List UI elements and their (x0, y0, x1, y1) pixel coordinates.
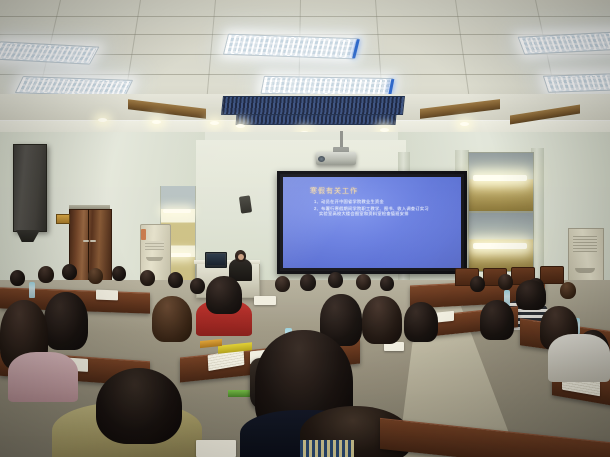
attendee-head (470, 276, 485, 292)
door-plaque (56, 214, 70, 224)
attendee-hair (152, 296, 192, 342)
attendee-hair (44, 292, 88, 350)
attendee-hair (480, 300, 514, 340)
attendee-hair (404, 302, 438, 342)
attendee-head (168, 272, 183, 288)
paper-sheet (96, 290, 118, 301)
chair-back (540, 266, 564, 284)
attendee-body (548, 334, 610, 382)
attendee-head (498, 274, 513, 290)
water-bottle (29, 282, 35, 298)
attendee-head (190, 278, 205, 294)
ceiling-downlight (460, 122, 469, 126)
navy-ceiling-slats (236, 114, 397, 125)
attendee-head (88, 268, 103, 284)
attendee-hair (362, 296, 402, 344)
door-handle[interactable] (83, 240, 89, 242)
presenter-laptop (205, 252, 227, 268)
projector-lens-icon (318, 156, 325, 162)
wall-speaker (13, 144, 47, 232)
ac-logo (575, 268, 595, 273)
attendee-head (356, 274, 371, 290)
attendee-head (10, 270, 25, 286)
attendee-hair (516, 280, 546, 310)
projection-screen: 寒假有关工作 1、动员在开中国省学院教业生资金 2、布署行寒假期间学院职工教学、… (283, 177, 461, 268)
ac-vent (573, 236, 597, 252)
attendee-head (560, 282, 576, 299)
attendee-head (38, 266, 54, 283)
ceiling-downlight (98, 118, 107, 122)
sconce-lamp (473, 175, 527, 181)
ceiling-light-panel (0, 41, 99, 64)
laptop-screen (207, 254, 225, 265)
attendee-hair (206, 276, 242, 314)
attendee-head (112, 266, 126, 281)
attendee-head (62, 264, 77, 280)
ac-logo (146, 257, 163, 261)
wall-sconce-panel (468, 152, 534, 212)
door-handle[interactable] (90, 240, 96, 242)
attendee-head (140, 270, 155, 286)
small-wall-speaker (239, 195, 252, 213)
projection-screen-frame: 寒假有关工作 1、动员在开中国省学院教业生资金 2、布署行寒假期间学院职工教学、… (277, 171, 467, 274)
ceiling-downlight (236, 124, 245, 128)
ceiling-downlight (210, 121, 219, 125)
photo-scene: 寒假有关工作 1、动员在开中国省学院教业生资金 2、布署行寒假期间学院职工教学、… (0, 0, 610, 457)
ceiling-light-panel (543, 72, 610, 93)
attendee-head (275, 276, 290, 292)
ceiling-light-panel (223, 34, 359, 60)
attendee-head (328, 272, 343, 288)
presenter-face (238, 254, 244, 260)
ceiling-downlight (152, 120, 161, 124)
sconce-lamp (473, 243, 527, 249)
navy-ceiling-slats (221, 96, 405, 115)
patterned-cloth (300, 440, 354, 457)
attendee-head (300, 274, 316, 291)
ac-control-panel[interactable] (141, 229, 146, 240)
attendee-body (8, 352, 78, 402)
paper-sheet (196, 440, 236, 457)
ac-vent (145, 241, 164, 250)
wall-sconce-panel (468, 212, 534, 272)
attendee-head (380, 276, 394, 291)
screen-glare (283, 177, 461, 268)
foreground-attendee-hair (96, 368, 182, 444)
sconce-lamp (163, 209, 191, 213)
paper-sheet (254, 296, 276, 305)
